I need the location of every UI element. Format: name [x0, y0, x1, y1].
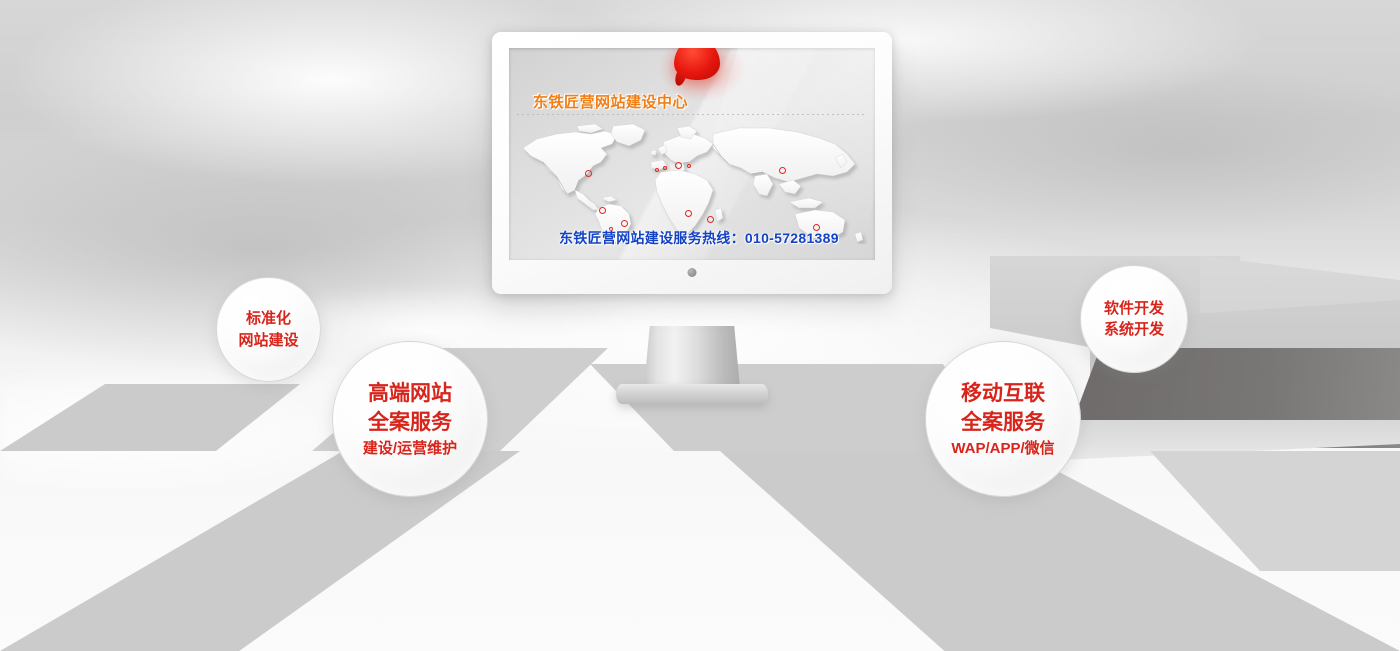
bubble-software-line2: 系统开发: [1104, 319, 1164, 340]
map-pin-icon: [674, 48, 720, 80]
bubble-highend-line2: 全案服务: [368, 408, 452, 438]
bubble-standard-line2: 网站建设: [238, 330, 298, 351]
bubble-highend[interactable]: 高端网站 全案服务 建设/运营维护: [332, 341, 488, 497]
screen-hotline: 东铁匠营网站建设服务热线：010-57281389: [559, 228, 839, 248]
bubble-mobile-line2: 全案服务: [961, 408, 1045, 438]
map-marker-east-asia: [779, 167, 786, 174]
bubble-standard[interactable]: 标准化 网站建设: [216, 277, 321, 382]
bubble-mobile[interactable]: 移动互联 全案服务 WAP/APP/微信: [925, 341, 1081, 497]
screen-divider: [517, 114, 867, 115]
map-marker-south-america-2: [621, 220, 628, 227]
map-marker-africa-central: [707, 216, 714, 223]
monitor-base: [616, 384, 768, 404]
bubble-highend-line3: 建设/运营维护: [363, 438, 457, 459]
map-marker-africa-west: [685, 210, 692, 217]
bubble-mobile-line3: WAP/APP/微信: [951, 438, 1054, 459]
monitor-neck: [644, 326, 740, 388]
map-marker-central-america: [599, 207, 606, 214]
monitor: 东铁匠营网站建设中心: [492, 32, 892, 294]
map-marker-europe-main: [675, 162, 682, 169]
floor-tile-back-left: [0, 384, 300, 451]
bubble-standard-line1: 标准化: [246, 308, 291, 329]
bubble-mobile-line1: 移动互联: [961, 379, 1045, 409]
monitor-indicator-dot: [688, 268, 697, 277]
bubble-highend-line1: 高端网站: [368, 379, 452, 409]
map-marker-europe-south: [687, 164, 691, 168]
map-marker-west-europe-1: [655, 168, 659, 172]
world-map: [517, 122, 869, 244]
bubble-software[interactable]: 软件开发 系统开发: [1080, 265, 1188, 373]
monitor-screen[interactable]: 东铁匠营网站建设中心: [509, 48, 875, 260]
bubble-software-line1: 软件开发: [1104, 298, 1164, 319]
map-marker-west-europe-2: [663, 166, 667, 170]
hero-banner: 东铁匠营网站建设中心: [0, 0, 1400, 651]
screen-title: 东铁匠营网站建设中心: [533, 91, 688, 112]
map-marker-north-america: [585, 170, 592, 177]
